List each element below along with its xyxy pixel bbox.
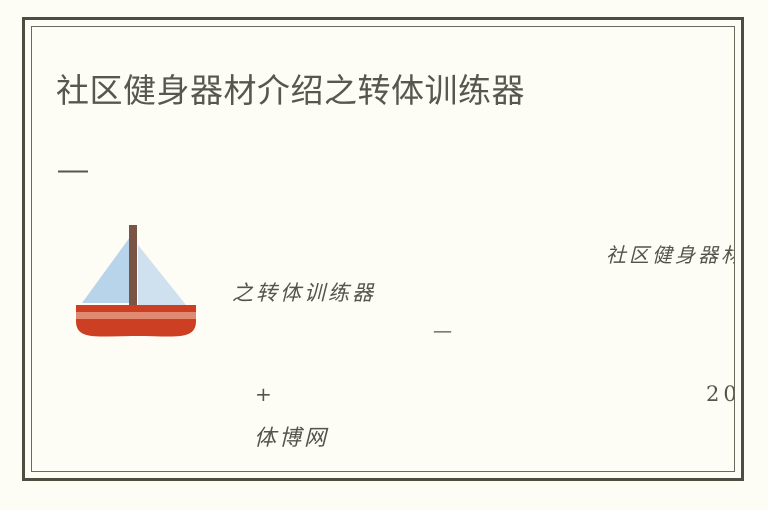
slide-content-area: 社区健身器材介绍之转体训练器 — 之转体训练器 — + 体博网 社区健身器材 2… [32, 27, 734, 471]
annotation-brand: 体博网 [254, 420, 329, 452]
annotation-plus: + [255, 382, 272, 406]
slide-canvas: 社区健身器材介绍之转体训练器 — 之转体训练器 — + 体博网 社区健身器材 2… [0, 0, 768, 510]
annotation-right-title: 社区健身器材 [606, 239, 734, 268]
annotation-subtitle: 之转体训练器 [232, 277, 376, 307]
title-dash: — [58, 155, 88, 185]
page-title: 社区健身器材介绍之转体训练器 [56, 70, 525, 111]
annotation-year: 2012 [706, 382, 734, 406]
sailboat-icon [70, 209, 202, 341]
annotation-dash: — [433, 320, 452, 342]
